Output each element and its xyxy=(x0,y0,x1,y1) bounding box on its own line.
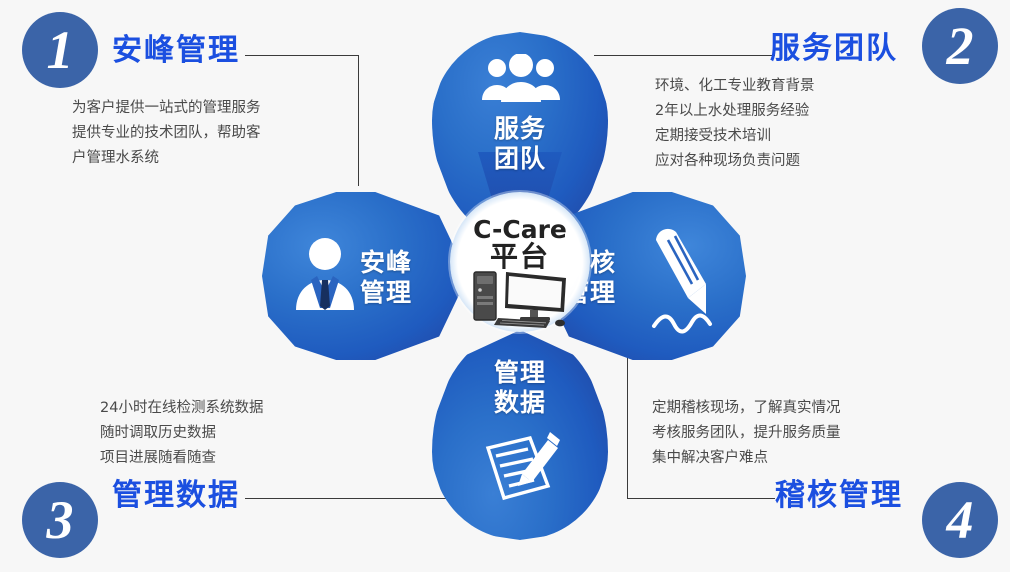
description-line: 定期稽核现场，了解真实情况 xyxy=(652,396,841,421)
description-line: 项目进展随看随查 xyxy=(100,446,263,471)
step-badge-3-number: 3 xyxy=(47,493,74,547)
brand-name-cn: 平台 xyxy=(450,243,590,270)
description-line: 为客户提供一站式的管理服务 xyxy=(72,96,261,121)
connector-line-1-vertical xyxy=(358,55,359,186)
description-line: 集中解决客户难点 xyxy=(652,446,841,471)
petal-management-data[interactable]: 管理 数据 xyxy=(432,330,608,540)
section-heading-1: 安峰管理 xyxy=(112,25,240,69)
desktop-computer-icon xyxy=(472,268,570,335)
section-description-3: 24小时在线检测系统数据 随时调取历史数据 项目进展随看随查 xyxy=(100,396,263,471)
description-line: 应对各种现场负责问题 xyxy=(655,149,815,174)
connector-line-4-vertical xyxy=(627,350,628,499)
center-hub-title: C-Care 平台 xyxy=(450,216,590,270)
businessman-icon xyxy=(292,236,358,319)
description-line: 提供专业的技术团队，帮助客 xyxy=(72,121,261,146)
step-badge-1: 1 xyxy=(22,12,98,88)
connector-line-2-horizontal xyxy=(594,55,775,56)
step-badge-2: 2 xyxy=(922,8,998,84)
description-line: 户管理水系统 xyxy=(72,146,261,171)
description-line: 2年以上水处理服务经验 xyxy=(655,99,815,124)
infographic-canvas: 1 2 3 4 安峰管理 服务团队 管理数据 稽核管理 为客户提供一站式的管理服… xyxy=(0,0,1010,572)
people-group-icon xyxy=(480,54,562,109)
connector-line-4-horizontal xyxy=(627,498,775,499)
section-heading-2: 服务团队 xyxy=(770,23,898,67)
petal-service-team-label: 服务 团队 xyxy=(432,114,608,174)
description-line: 考核服务团队，提升服务质量 xyxy=(652,421,841,446)
description-line: 随时调取历史数据 xyxy=(100,421,263,446)
petal-anfeng-management-label: 安峰 管理 xyxy=(360,248,450,308)
description-line: 24小时在线检测系统数据 xyxy=(100,396,263,421)
section-description-2: 环境、化工专业教育背景 2年以上水处理服务经验 定期接受技术培训 应对各种现场负… xyxy=(655,74,815,174)
petal-anfeng-management[interactable]: 安峰 管理 xyxy=(262,192,468,360)
pencil-icon xyxy=(648,222,724,339)
connector-line-1-horizontal xyxy=(245,55,359,56)
step-badge-1-number: 1 xyxy=(47,23,74,77)
step-badge-4-number: 4 xyxy=(947,493,974,547)
description-line: 环境、化工专业教育背景 xyxy=(655,74,815,99)
section-description-4: 定期稽核现场，了解真实情况 考核服务团队，提升服务质量 集中解决客户难点 xyxy=(652,396,841,471)
section-heading-4: 稽核管理 xyxy=(775,470,903,514)
step-badge-4: 4 xyxy=(922,482,998,558)
connector-line-3-horizontal xyxy=(245,498,452,499)
section-description-1: 为客户提供一站式的管理服务 提供专业的技术团队，帮助客 户管理水系统 xyxy=(72,96,261,171)
step-badge-3: 3 xyxy=(22,482,98,558)
description-line: 定期接受技术培训 xyxy=(655,124,815,149)
section-heading-3: 管理数据 xyxy=(112,470,240,514)
clipboard-pencil-icon xyxy=(478,426,564,513)
step-badge-2-number: 2 xyxy=(947,19,974,73)
petal-management-data-label: 管理 数据 xyxy=(432,358,608,418)
